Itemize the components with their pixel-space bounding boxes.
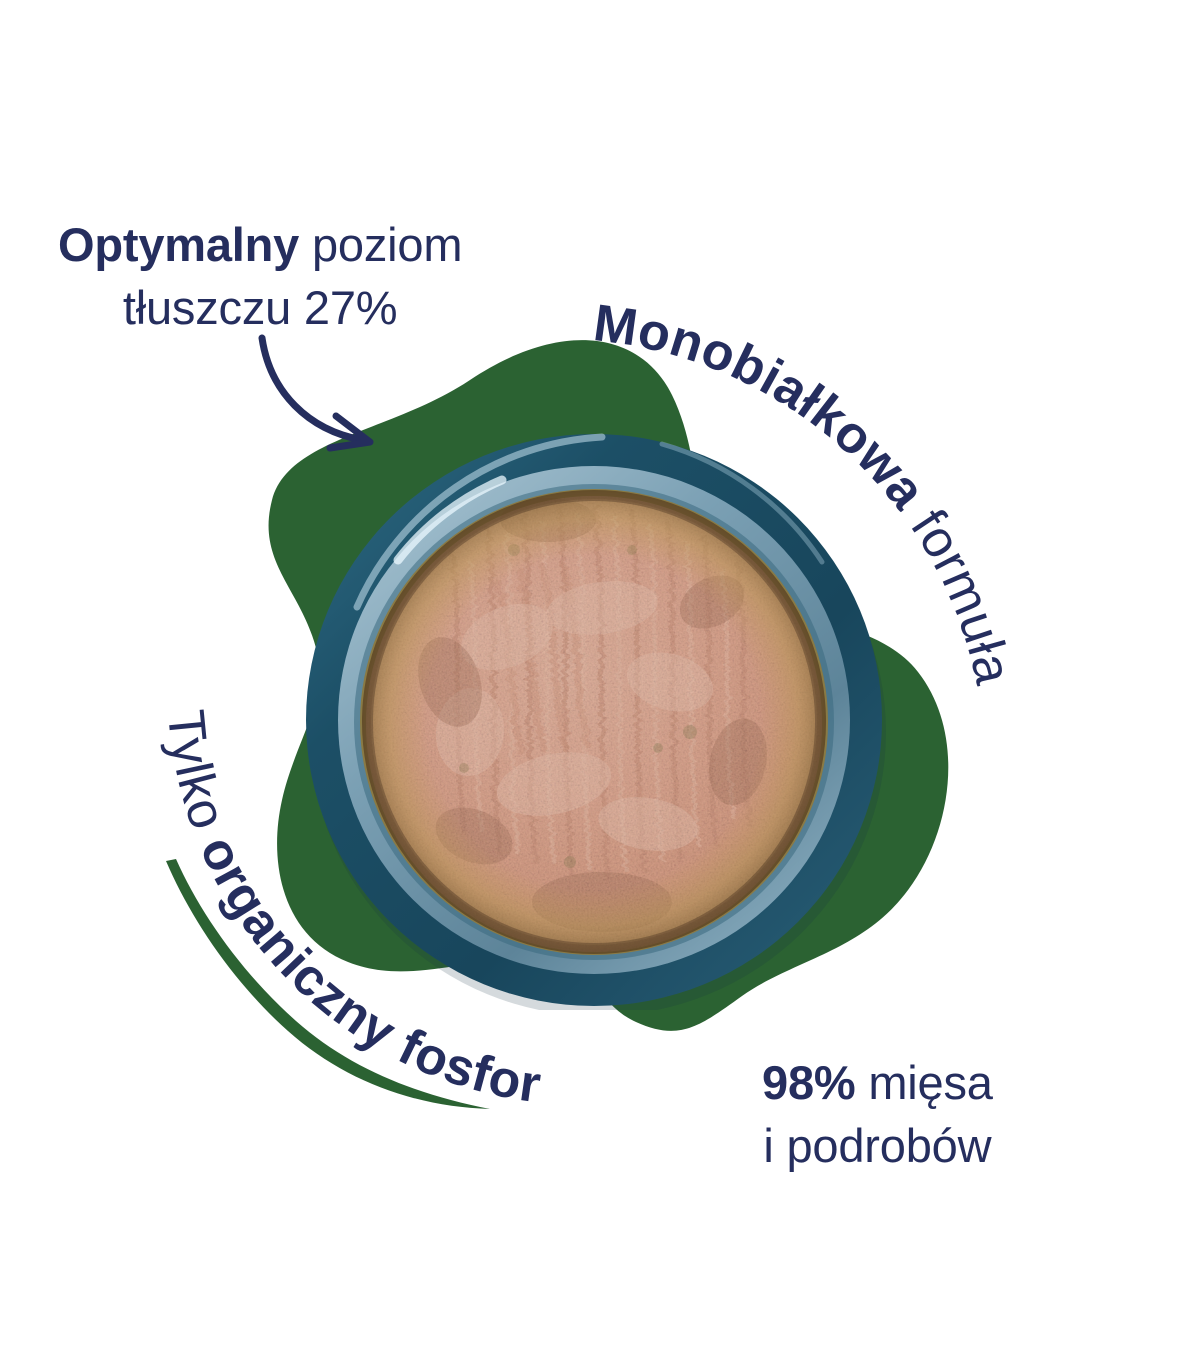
- organic-phosphorus-bold: organiczny fosfor: [188, 827, 544, 1114]
- infographic-canvas: Optymalny poziom tłuszczu 27% 98% mięsa …: [0, 0, 1200, 1372]
- callout-organic-phosphorus: Tylko organiczny fosfor: [0, 380, 1200, 1280]
- svg-text:Tylko organiczny fosfor: Tylko organiczny fosfor: [156, 707, 545, 1114]
- organic-phosphorus-reg: Tylko: [156, 707, 242, 851]
